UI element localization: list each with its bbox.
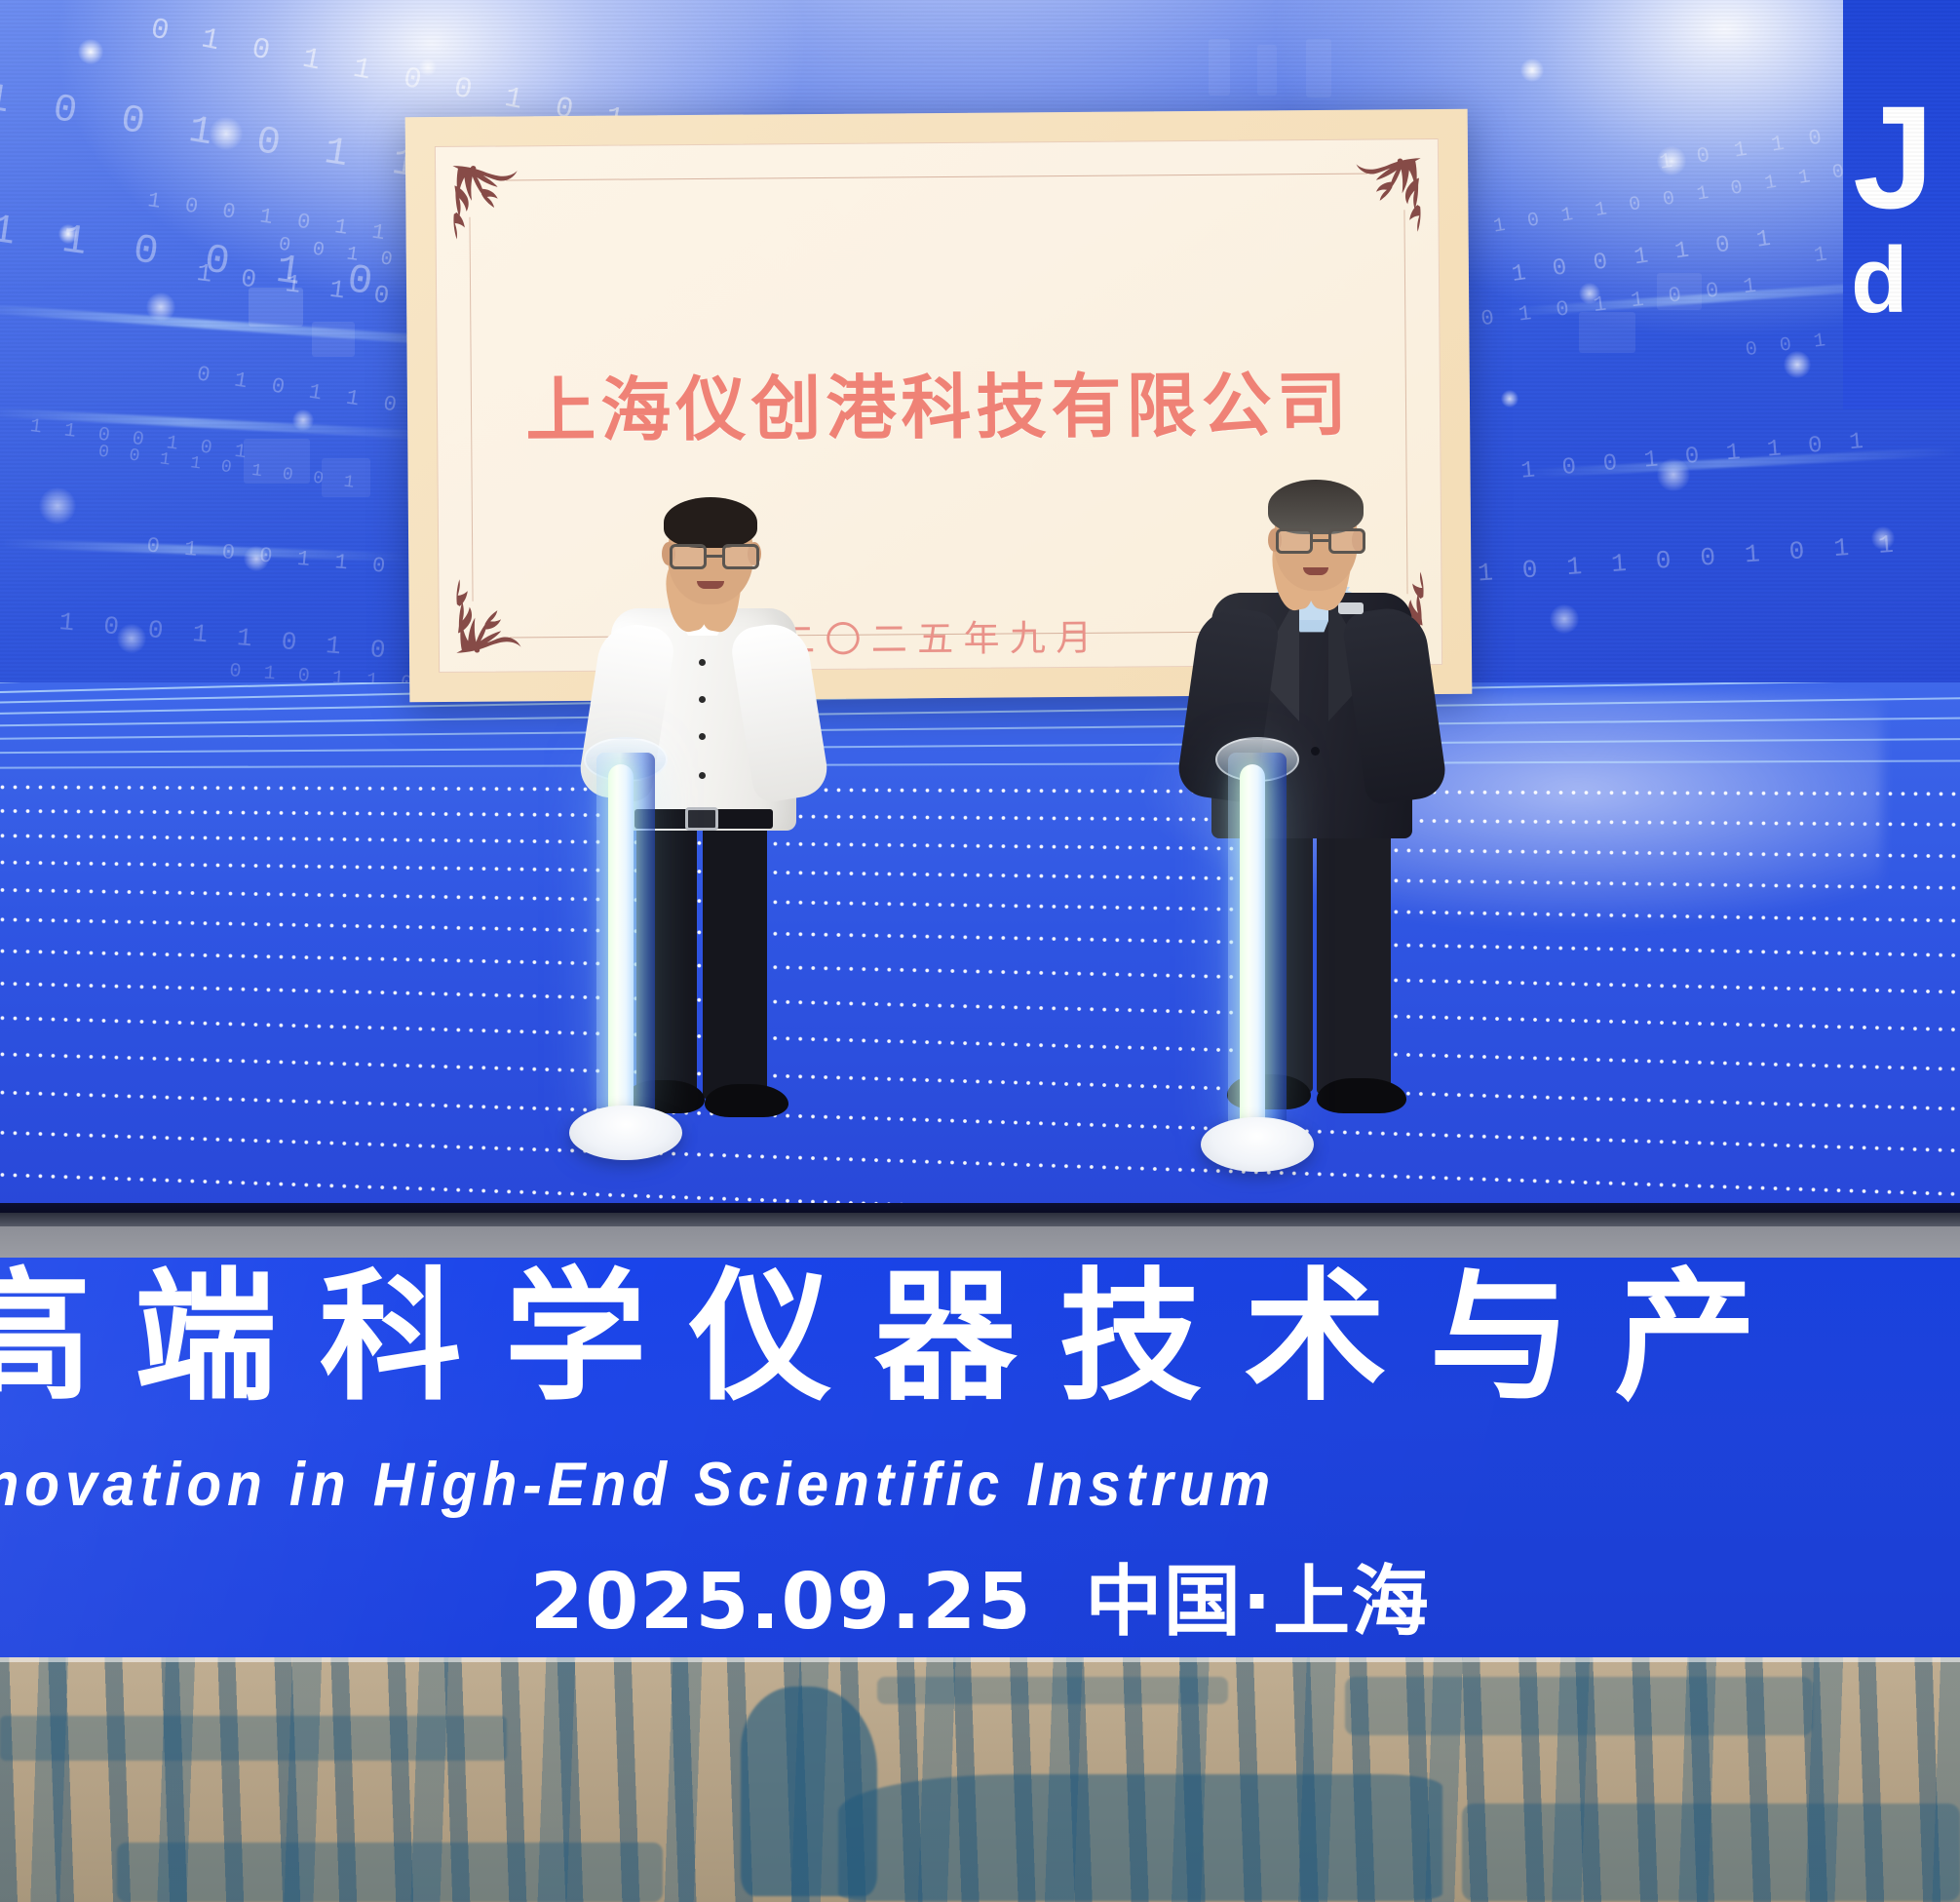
right-person-hair — [1268, 480, 1364, 534]
wave-dotted-line — [0, 1086, 1960, 1157]
column-light-core — [1240, 764, 1265, 1139]
bokeh-particle — [1871, 526, 1895, 550]
bokeh-particle — [39, 487, 76, 524]
banner-chinese-title: 高端科学仪器技术与产 — [0, 1262, 1960, 1416]
foreground-carpet — [0, 1657, 1960, 1902]
suit-button — [1311, 747, 1320, 756]
left-person-hair — [664, 497, 757, 548]
shirt-button — [699, 696, 706, 703]
bokeh-particle — [58, 224, 78, 244]
carpet-pattern-shape — [838, 1774, 1442, 1901]
bokeh-particle — [1520, 58, 1544, 82]
binary-text: 0 0 1 1 0 1 0 0 1 — [1745, 304, 1960, 362]
left-person-glasses — [670, 544, 753, 571]
banner-date-location: 2025.09.25中国·上海 — [0, 1538, 1960, 1650]
carpet-pattern-shape — [1462, 1804, 1960, 1901]
right-person — [1165, 478, 1457, 1141]
glasses-lens — [1328, 528, 1365, 554]
signage-letter-d: d — [1851, 234, 1908, 328]
bokeh-particle — [1657, 458, 1690, 491]
binary-text: 0 1 0 0 1 1 0 1 — [145, 533, 430, 582]
bokeh-particle — [1657, 146, 1686, 175]
glass-block — [1657, 273, 1702, 310]
right-person-leg — [1317, 799, 1391, 1094]
shirt-button — [699, 659, 706, 666]
column-base — [1201, 1117, 1313, 1172]
shirt-button — [699, 733, 706, 740]
ceremony-photo: 0 1 0 1 1 0 0 1 0 1 1 1 0 0 1 0 1 1 0 1 … — [0, 0, 1960, 1902]
light-streak — [1520, 446, 1959, 479]
glass-block — [1306, 39, 1331, 97]
banner-date: 2025.09.25 — [530, 1557, 1033, 1647]
left-person-mouth — [697, 581, 724, 589]
wave-dotted-line — [0, 1126, 1960, 1201]
binary-text: 0 0 1 1 0 1 0 0 1 — [97, 443, 361, 494]
bokeh-particle — [146, 292, 175, 322]
left-person-leg — [703, 814, 767, 1099]
ornament-flourish-icon — [445, 156, 536, 247]
left-launch-column — [596, 753, 655, 1131]
glass-block — [312, 322, 355, 357]
banner-location: 中国·上海 — [1085, 1557, 1430, 1647]
right-person-shoe — [1317, 1078, 1406, 1113]
glass-block — [1209, 39, 1230, 96]
side-signage-panel: J d — [1843, 0, 1960, 409]
right-person-mouth — [1303, 567, 1328, 575]
banner-english-subtitle: nnovation in High-End Scientific Instrum — [0, 1450, 1938, 1520]
glasses-lens — [1276, 528, 1313, 554]
carpet-pattern-shape — [877, 1677, 1228, 1704]
carpet-pattern-shape — [1345, 1677, 1813, 1735]
glasses-lens — [722, 544, 759, 569]
glass-block — [1257, 45, 1277, 96]
light-streak — [1501, 277, 1958, 318]
signage-letter-j: J — [1853, 84, 1934, 230]
binary-text: 1 0 0 1 1 0 1 0 0 — [58, 607, 438, 670]
binary-text: 1 1 0 0 1 0 1 — [28, 415, 252, 465]
shirt-button — [699, 772, 706, 779]
column-light-core — [608, 764, 634, 1127]
event-banner: 高端科学仪器技术与产 nnovation in High-End Scienti… — [0, 1258, 1960, 1662]
binary-text: 1 0 1 1 0 0 1 0 1 1 0 0 — [1658, 83, 1960, 175]
bokeh-particle — [1550, 604, 1579, 634]
bokeh-particle — [1501, 390, 1518, 408]
light-streak — [0, 539, 409, 563]
binary-text: 1 0 1 1 0 0 1 0 1 1 0 1 — [1492, 154, 1885, 238]
column-base — [569, 1106, 681, 1160]
left-person-shoe — [705, 1084, 788, 1117]
binary-text: 1 0 0 1 0 1 1 0 1 — [1520, 428, 1871, 485]
plaque-company-name: 上海仪创港科技有限公司 — [438, 346, 1441, 456]
ornament-flourish-icon — [1338, 149, 1429, 240]
glasses-lens — [670, 544, 707, 569]
carpet-pattern-shape — [0, 1716, 507, 1761]
bokeh-particle — [292, 409, 314, 431]
bokeh-particle — [117, 624, 146, 653]
glasses-bridge — [707, 555, 722, 558]
light-streak — [0, 408, 439, 441]
binary-text: 0 0 1 0 1 1 0 0 1 — [1442, 273, 1764, 336]
glass-block — [322, 458, 370, 497]
bokeh-particle — [78, 39, 103, 64]
bokeh-particle — [419, 58, 437, 76]
right-launch-column — [1228, 753, 1287, 1143]
bokeh-particle — [210, 117, 243, 150]
glass-block — [1579, 312, 1635, 353]
carpet-pattern-shape — [117, 1843, 663, 1902]
binary-text: 0 1 0 1 1 0 0 1 0 1 1 — [1433, 529, 1902, 591]
belt-buckle — [685, 807, 718, 831]
glass-block — [244, 439, 310, 484]
binary-text: 1 0 0 1 1 0 1 — [1510, 225, 1779, 289]
right-person-wristwatch — [1338, 602, 1364, 614]
right-person-glasses — [1276, 528, 1360, 556]
bokeh-particle — [1579, 283, 1600, 304]
bokeh-particle — [244, 546, 269, 571]
glass-block — [249, 288, 303, 327]
plaque-rule-top — [506, 174, 1367, 181]
bokeh-particle — [1784, 351, 1811, 378]
carpet-edge-trim — [0, 1657, 1960, 1662]
binary-text: 1 1 0 0 1 0 1 1 — [1813, 205, 1960, 268]
led-wall-lower — [0, 682, 1960, 1228]
glasses-bridge — [1313, 539, 1328, 542]
